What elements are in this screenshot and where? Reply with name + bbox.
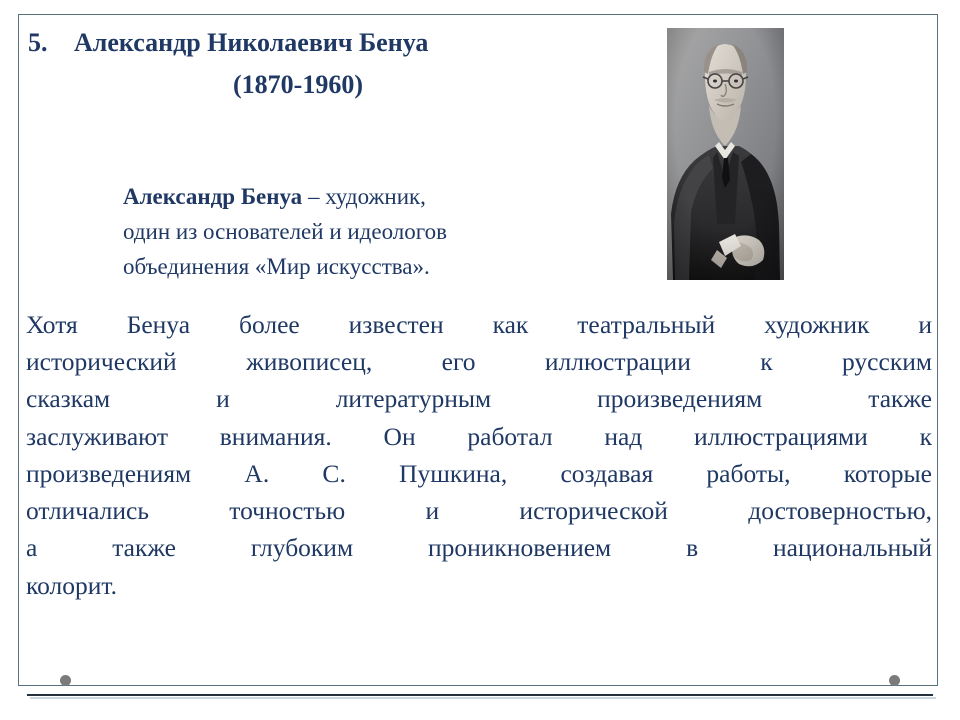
heading-title-text: Александр Николаевич Бенуа xyxy=(74,28,428,57)
body-line: Хотя Бенуа более известен как театральны… xyxy=(26,306,932,343)
page-title: 5.Александр Николаевич Бенуа (1870-1960) xyxy=(28,24,648,103)
slide-canvas: 5.Александр Николаевич Бенуа (1870-1960) xyxy=(0,0,960,720)
portrait-photo-graphic xyxy=(667,28,784,280)
footer-rule-light xyxy=(30,697,936,699)
footer-rule-dark xyxy=(27,694,933,696)
body-paragraph: Хотя Бенуа более известен как театральны… xyxy=(26,306,932,604)
heading-years: (1870-1960) xyxy=(28,66,648,104)
subject-name: Александр Бенуа xyxy=(123,184,302,209)
intro-line-1-rest: – художник, xyxy=(302,184,426,209)
decorative-dot-left xyxy=(60,675,71,686)
body-line: а также глубоким проникновением в национ… xyxy=(26,529,932,566)
body-line: отличались точностью и исторической дост… xyxy=(26,492,932,529)
intro-line-2: один из основателей и идеологов xyxy=(123,215,648,250)
intro-paragraph: Александр Бенуа – художник, один из осно… xyxy=(123,180,648,285)
intro-line-3: объединения «Мир искусства». xyxy=(123,250,648,285)
body-line: колорит. xyxy=(26,567,932,604)
heading-number: 5. xyxy=(28,24,74,62)
decorative-dot-right xyxy=(889,675,900,686)
intro-line-1: Александр Бенуа – художник, xyxy=(123,180,648,215)
body-line: исторический живописец, его иллюстрации … xyxy=(26,343,932,380)
portrait-photo xyxy=(667,28,784,280)
body-line: заслуживают внимания. Он работал над илл… xyxy=(26,418,932,455)
body-line: сказкам и литературным произведениям так… xyxy=(26,380,932,417)
body-line: произведениям А. С. Пушкина, создавая ра… xyxy=(26,455,932,492)
heading-title-line: 5.Александр Николаевич Бенуа xyxy=(28,24,648,62)
